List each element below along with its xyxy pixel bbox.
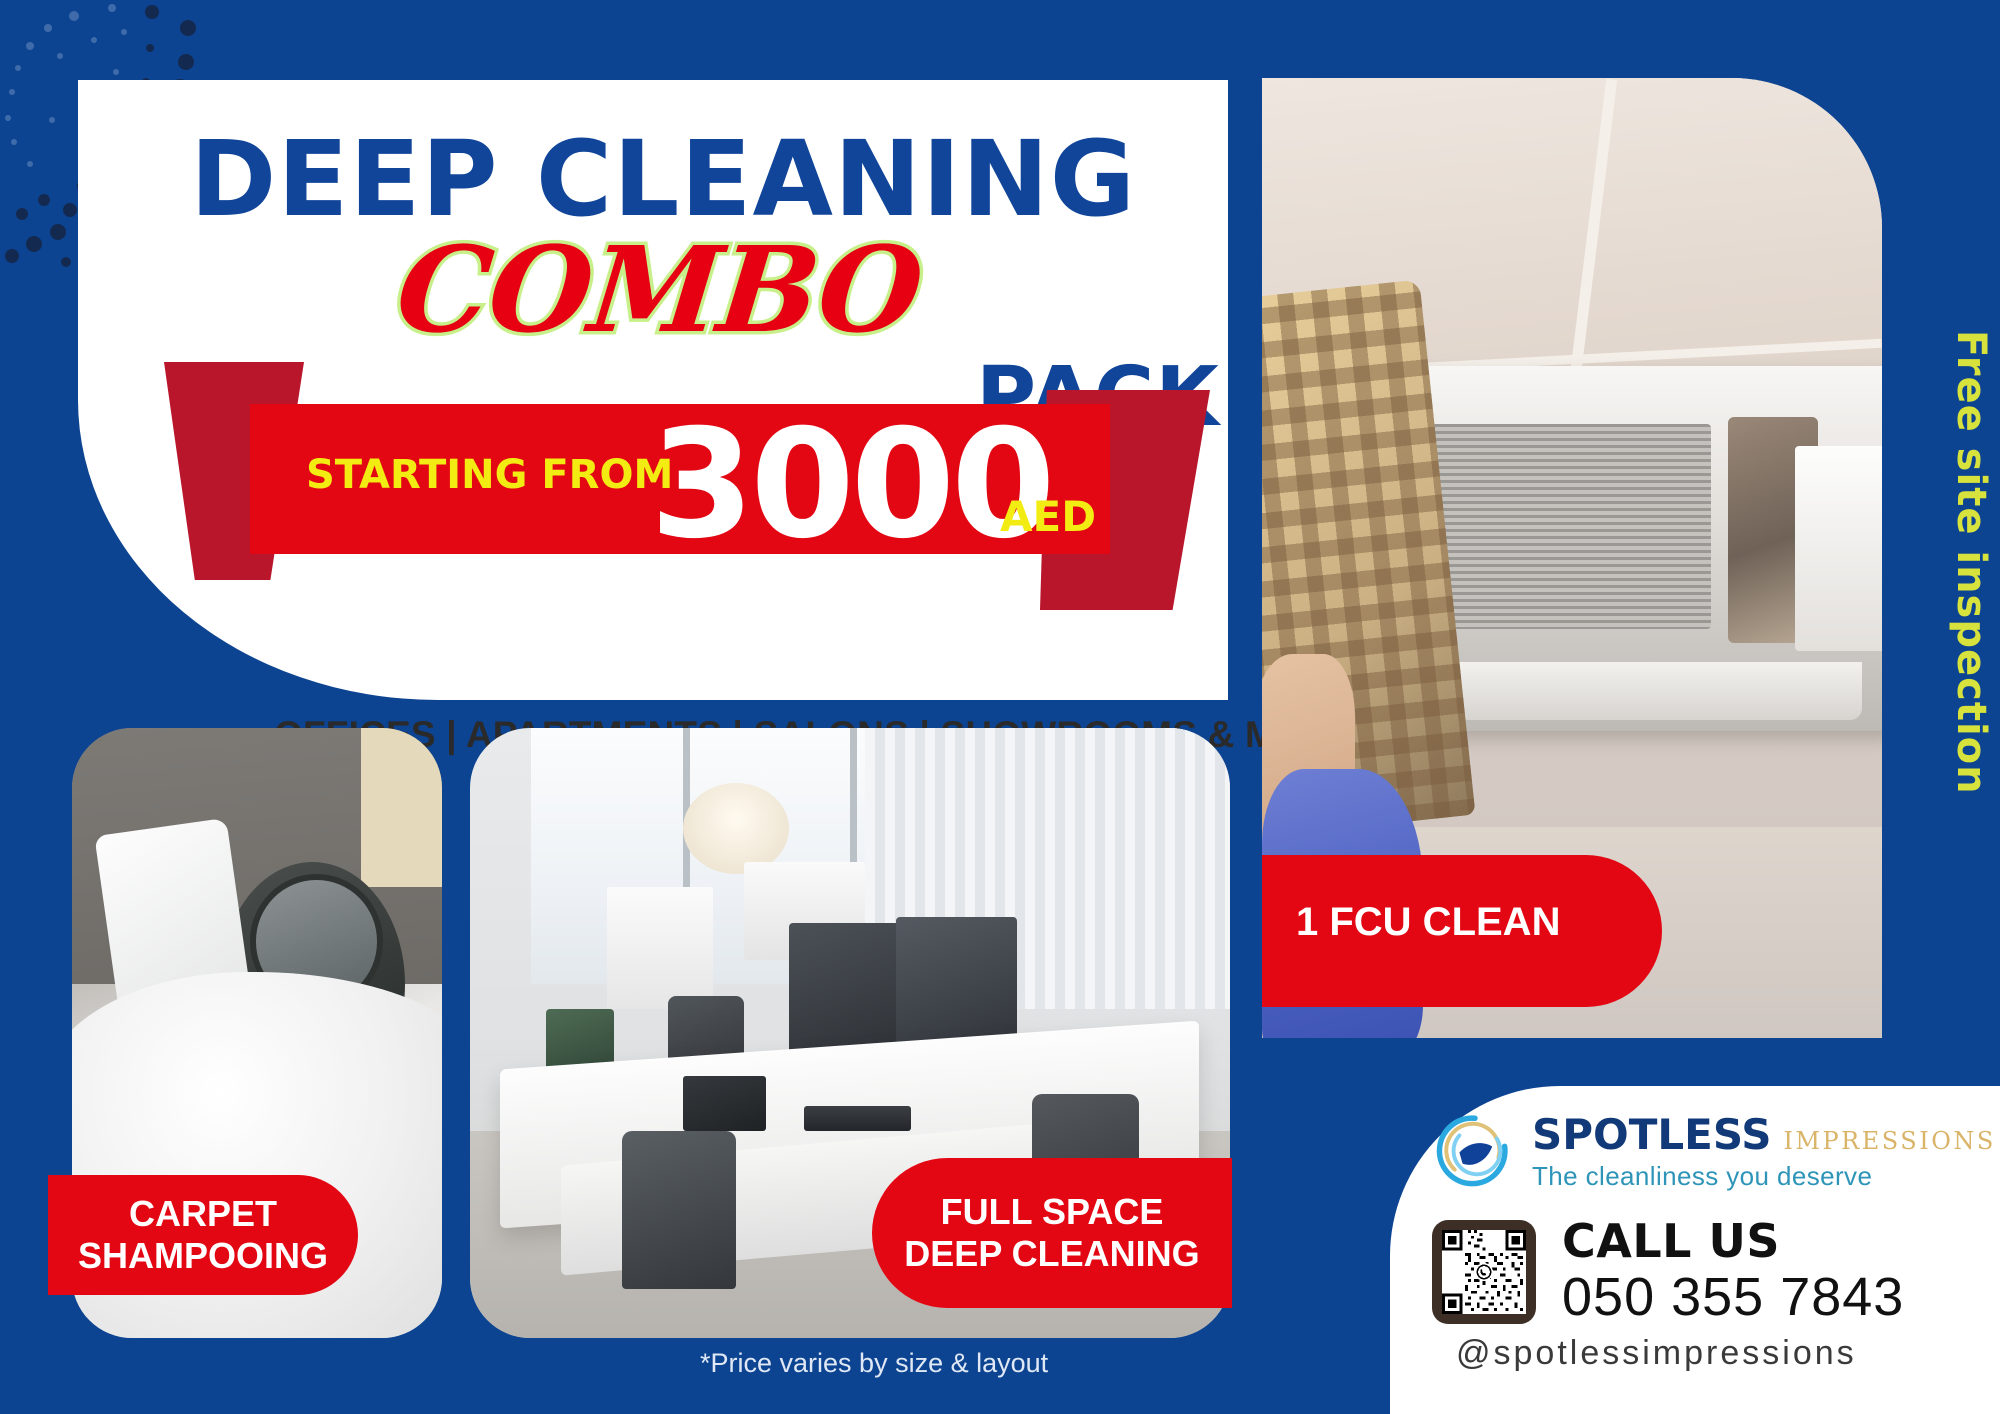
badge-full-space-deep-cleaning: FULL SPACE DEEP CLEANING <box>872 1158 1232 1308</box>
badge-carpet-line2: SHAMPOOING <box>78 1235 328 1277</box>
badge-fcu-label: 1 FCU CLEAN <box>1296 899 1560 946</box>
brand-logo: SPOTLESS IMPRESSIONS The cleanliness you… <box>1436 1110 1996 1192</box>
ribbon-body: STARTING FROM 3000 AED <box>250 404 1110 554</box>
phone-number[interactable]: 050 355 7843 <box>1562 1266 1904 1328</box>
badge-fullspace-line2: DEEP CLEANING <box>904 1233 1199 1275</box>
badge-carpet-line1: CARPET <box>129 1193 277 1235</box>
whatsapp-qr-code[interactable] <box>1432 1220 1536 1324</box>
badge-fullspace-line1: FULL SPACE <box>941 1191 1164 1233</box>
price-amount: 3000 <box>650 398 1051 572</box>
monitor-2 <box>896 917 1018 1051</box>
monitor-1 <box>789 923 911 1057</box>
keyboard <box>804 1106 910 1130</box>
badge-fcu-clean: 1 FCU CLEAN <box>1262 855 1662 1007</box>
contact-card: SPOTLESS IMPRESSIONS The cleanliness you… <box>1390 1086 2000 1414</box>
call-us-label: CALL US <box>1562 1214 1780 1268</box>
unit-side-panel <box>1795 446 1882 650</box>
price-ribbon: STARTING FROM 3000 AED <box>150 362 1210 602</box>
free-site-inspection-label: Free site inspection <box>1948 330 1994 795</box>
headline-line-2: COMBO <box>391 220 928 359</box>
badge-carpet-shampooing: CARPET SHAMPOOING <box>48 1175 358 1295</box>
swirl-droplet-icon <box>1436 1112 1514 1190</box>
brand-suffix: IMPRESSIONS <box>1783 1127 1995 1155</box>
price-currency: AED <box>1000 492 1096 541</box>
price-prefix: STARTING FROM <box>306 452 673 498</box>
office-chair-1 <box>622 1131 736 1290</box>
brand-tagline: The cleanliness you deserve <box>1532 1161 1996 1192</box>
laptop <box>683 1076 767 1131</box>
desk-partition-1 <box>607 887 713 1009</box>
wall-stripe <box>361 728 442 887</box>
price-disclaimer: *Price varies by size & layout <box>700 1348 1048 1379</box>
brand-name: SPOTLESS <box>1532 1110 1771 1159</box>
social-handle[interactable]: @spotlessimpressions <box>1456 1334 1857 1373</box>
pendant-lamp <box>683 783 789 875</box>
